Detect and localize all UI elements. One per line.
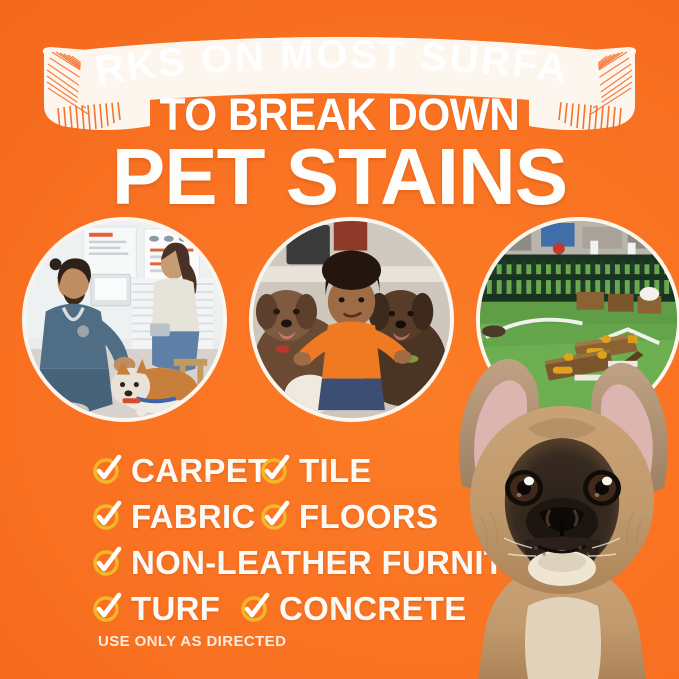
headline-block: TO BREAK DOWN PET STAINS bbox=[0, 92, 679, 215]
check-circle-icon bbox=[260, 455, 290, 485]
check-circle-icon bbox=[260, 501, 290, 531]
french-bulldog-photo bbox=[432, 336, 679, 679]
checklist-item-floors: FLOORS bbox=[260, 500, 438, 533]
fine-print-disclaimer: USE ONLY AS DIRECTED bbox=[98, 633, 286, 650]
checklist-item-carpet: CARPET bbox=[92, 454, 260, 487]
checklist-label: FABRIC bbox=[131, 500, 256, 533]
checklist-label: CARPET bbox=[131, 454, 268, 487]
photo-child-with-dogs bbox=[249, 217, 454, 422]
check-circle-icon bbox=[92, 593, 122, 623]
checklist-label: FLOORS bbox=[299, 500, 438, 533]
pet-stain-remover-ad: WORKS ON MOST SURFACES TO BREAK DOWN PET… bbox=[0, 0, 679, 679]
checklist-item-turf: TURF bbox=[92, 592, 240, 625]
photo-vet-clinic bbox=[22, 217, 227, 422]
headline-line-2: PET STAINS bbox=[0, 139, 679, 215]
checklist-label: TURF bbox=[131, 592, 220, 625]
checklist-item-tile: TILE bbox=[260, 454, 372, 487]
checklist-label: TILE bbox=[299, 454, 372, 487]
checklist-item-fabric: FABRIC bbox=[92, 500, 260, 533]
check-circle-icon bbox=[92, 455, 122, 485]
check-circle-icon bbox=[92, 501, 122, 531]
check-circle-icon bbox=[92, 547, 122, 577]
check-circle-icon bbox=[240, 593, 270, 623]
